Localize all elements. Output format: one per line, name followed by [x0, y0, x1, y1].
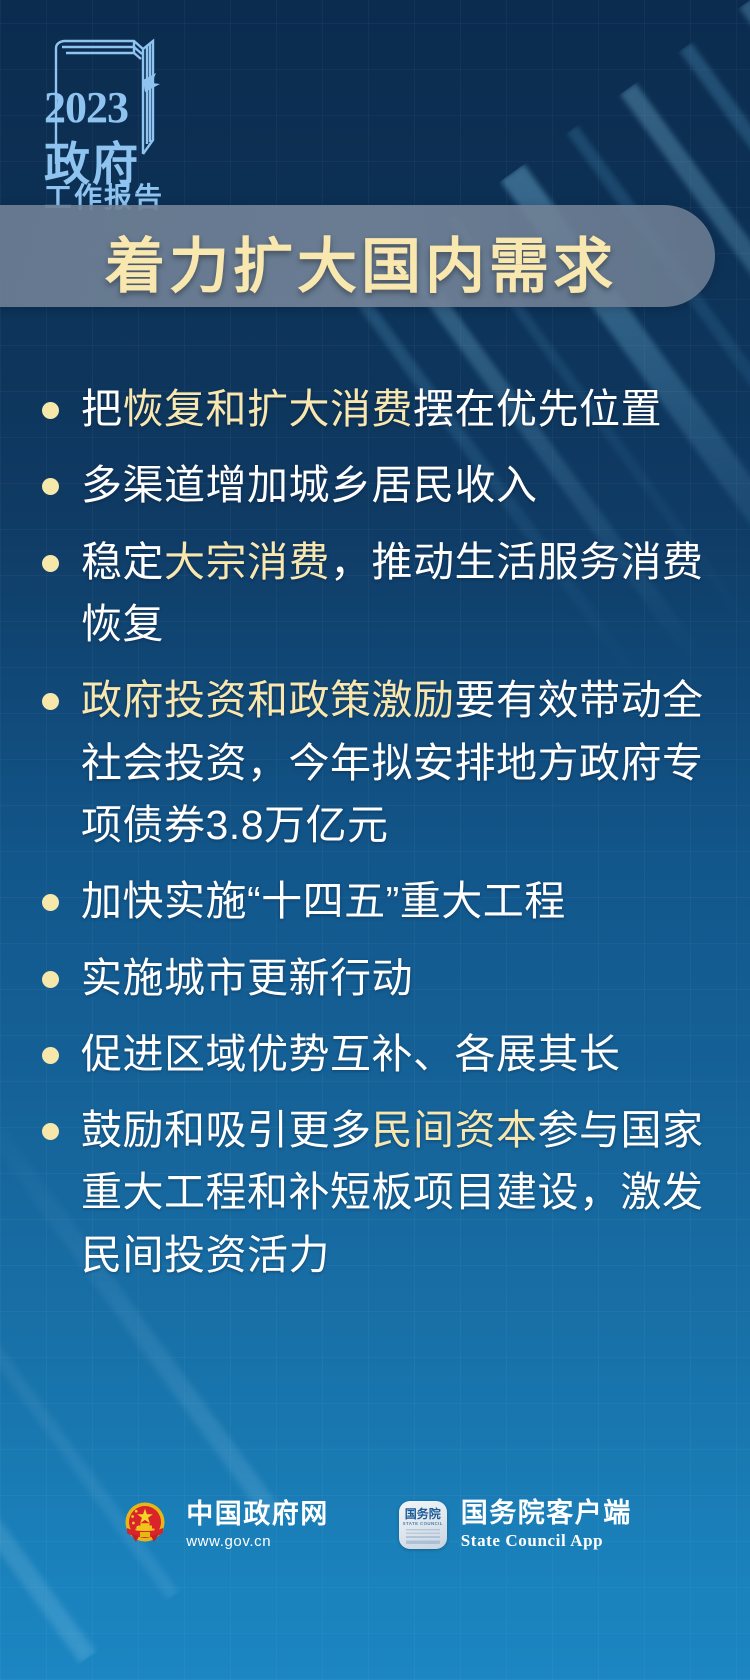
plain-text: 摆在优先位置	[413, 386, 662, 432]
report-brand-logo: 2023 政府 工作报告	[40, 36, 190, 186]
gov-cn-url: www.gov.cn	[186, 1533, 329, 1550]
national-emblem-icon	[118, 1498, 172, 1552]
plain-text: 促进区域优势互补、各展其长	[81, 1031, 621, 1077]
bullet-dot-icon	[42, 402, 59, 419]
gov-cn-text: 中国政府网 www.gov.cn	[186, 1500, 329, 1549]
highlighted-text: 民间资本	[372, 1107, 538, 1153]
plain-text: 实施城市更新行动	[81, 955, 413, 1001]
list-item: 实施城市更新行动	[42, 947, 710, 1009]
list-item-text: 稳定大宗消费，推动生活服务消费恢复	[81, 531, 710, 656]
footer-logos: 中国政府网 www.gov.cn 国务院 STATE COUNCIL 国务院客户…	[0, 1498, 750, 1552]
plain-text: 鼓励和吸引更多	[81, 1107, 372, 1153]
list-item: 鼓励和吸引更多民间资本参与国家重大工程和补短板项目建设，激发民间投资活力	[42, 1099, 710, 1286]
state-council-name: 国务院客户端	[461, 1499, 632, 1528]
list-item-text: 实施城市更新行动	[81, 947, 710, 1009]
list-item-text: 加快实施“十四五”重大工程	[81, 870, 710, 932]
list-item-text: 把恢复和扩大消费摆在优先位置	[81, 378, 710, 440]
list-item-text: 促进区域优势互补、各展其长	[81, 1023, 710, 1085]
list-item: 政府投资和政策激励要有效带动全社会投资，今年拟安排地方政府专项债券3.8万亿元	[42, 669, 710, 856]
plain-text: 多渠道增加城乡居民收入	[81, 462, 538, 508]
state-council-app-icon: 国务院 STATE COUNCIL	[399, 1501, 447, 1549]
list-item-text: 政府投资和政策激励要有效带动全社会投资，今年拟安排地方政府专项债券3.8万亿元	[81, 669, 710, 856]
state-council-app-logo[interactable]: 国务院 STATE COUNCIL 国务院客户端 State Council A…	[399, 1499, 632, 1551]
gov-cn-name: 中国政府网	[186, 1500, 329, 1529]
plain-text: 加快实施“十四五”重大工程	[81, 878, 566, 924]
list-item-text: 多渠道增加城乡居民收入	[81, 454, 710, 516]
plain-text: 把	[81, 386, 123, 432]
bullet-list: 把恢复和扩大消费摆在优先位置多渠道增加城乡居民收入稳定大宗消费，推动生活服务消费…	[42, 378, 710, 1300]
bullet-dot-icon	[42, 693, 59, 710]
list-item: 把恢复和扩大消费摆在优先位置	[42, 378, 710, 440]
page-title: 着力扩大国内需求	[105, 218, 617, 305]
bullet-dot-icon	[42, 1047, 59, 1064]
bullet-dot-icon	[42, 1123, 59, 1140]
list-item: 稳定大宗消费，推动生活服务消费恢复	[42, 531, 710, 656]
bullet-dot-icon	[42, 894, 59, 911]
highlighted-text: 政府投资和政策激励	[81, 677, 455, 723]
brand-year: 2023	[44, 82, 128, 133]
gov-cn-logo[interactable]: 中国政府网 www.gov.cn	[118, 1498, 329, 1552]
tiananmen-gate-icon	[406, 1527, 440, 1544]
poster-root: 2023 政府 工作报告 着力扩大国内需求 把恢复和扩大消费摆在优先位置多渠道增…	[0, 0, 750, 1680]
list-item: 促进区域优势互补、各展其长	[42, 1023, 710, 1085]
app-icon-label-en: STATE COUNCIL	[399, 1521, 447, 1526]
highlighted-text: 大宗消费	[164, 539, 330, 585]
bullet-dot-icon	[42, 971, 59, 988]
state-council-subtitle: State Council App	[461, 1531, 632, 1551]
highlighted-text: 恢复和扩大消费	[123, 386, 414, 432]
list-item: 加快实施“十四五”重大工程	[42, 870, 710, 932]
bullet-dot-icon	[42, 478, 59, 495]
bullet-dot-icon	[42, 555, 59, 572]
plain-text: 稳定	[81, 539, 164, 585]
state-council-text: 国务院客户端 State Council App	[461, 1499, 632, 1551]
list-item: 多渠道增加城乡居民收入	[42, 454, 710, 516]
app-icon-label-cn: 国务院	[399, 1508, 447, 1520]
list-item-text: 鼓励和吸引更多民间资本参与国家重大工程和补短板项目建设，激发民间投资活力	[81, 1099, 710, 1286]
